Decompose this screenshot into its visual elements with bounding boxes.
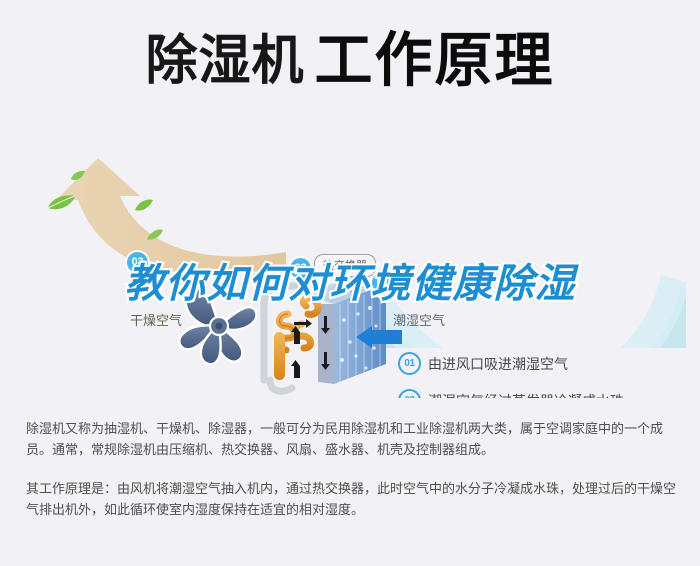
page-title: 除湿机 工作原理 — [0, 18, 700, 104]
legend-number: 01 — [398, 352, 421, 375]
humid-air-label: 潮湿空气 — [393, 310, 445, 329]
page-title-part2: 工作原理 — [315, 31, 555, 90]
dehumidifier-diagram: 热交换器 01 02 03 干燥空气 潮湿空气 水箱 01 由进风口吸进潮湿空气… — [0, 110, 700, 398]
legend-label: 由进风口吸进潮湿空气 — [428, 354, 568, 374]
step-badge-03: 03 — [127, 252, 148, 273]
dry-air-label: 干燥空气 — [130, 310, 182, 329]
step-badge-02: 02 — [290, 258, 311, 279]
page-title-part1: 除湿机 — [145, 34, 304, 88]
air-inlet-arrow-icon — [356, 326, 402, 348]
legend-label: 潮湿空气经过蒸发器冷凝成水珠 — [428, 391, 624, 399]
legend-list: 01 由进风口吸进潮湿空气 02 潮湿空气经过蒸发器冷凝成水珠 03 从上部出风… — [398, 352, 690, 398]
paragraph-1: 除湿机又称为抽湿机、干燥机、除湿器，一般可分为民用除湿机和工业除湿机两大类，属于… — [26, 418, 678, 460]
infographic-page: 除湿机 工作原理 — [0, 0, 700, 566]
list-item: 01 由进风口吸进潮湿空气 — [398, 352, 690, 375]
leaf-icon — [146, 228, 164, 241]
list-item: 02 潮湿空气经过蒸发器冷凝成水珠 — [398, 389, 690, 398]
leaf-icon — [134, 198, 154, 212]
step-badge-01: 01 — [372, 272, 393, 293]
leaf-icon — [46, 194, 76, 212]
body-copy: 除湿机又称为抽湿机、干燥机、除湿器，一般可分为民用除湿机和工业除湿机两大类，属于… — [26, 418, 678, 520]
leaf-icon — [70, 170, 86, 182]
paragraph-2: 其工作原理是：由风机将潮湿空气抽入机内，通过热交换器，此时空气中的水分子冷凝成水… — [26, 478, 678, 520]
legend-number: 02 — [398, 389, 421, 398]
callout-pointer-icon — [339, 270, 355, 292]
